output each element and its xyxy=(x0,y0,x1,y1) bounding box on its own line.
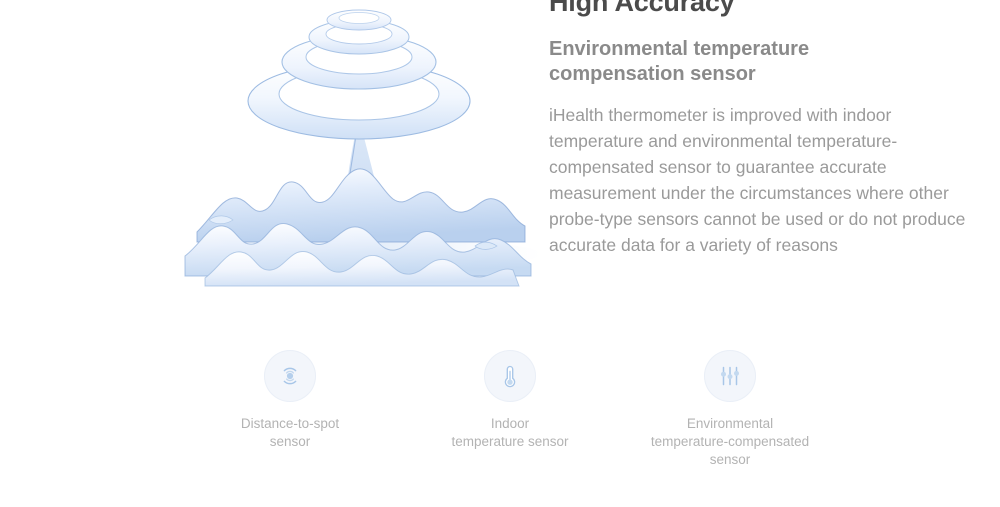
feature-label: Indoor temperature sensor xyxy=(451,415,568,451)
feature-label: Environmental temperature-compensated se… xyxy=(651,415,809,469)
thermometer-icon xyxy=(484,350,536,402)
body-paragraph: iHealth thermometer is improved with ind… xyxy=(549,103,979,258)
ring-tiny xyxy=(327,10,391,30)
distance-to-spot-sensor-icon xyxy=(264,350,316,402)
feature-label: Distance-to-spot sensor xyxy=(241,415,339,451)
sensor-feature-row: Distance-to-spot sensor Indoor temperatu… xyxy=(180,350,840,469)
page-title: High Accuracy xyxy=(549,0,985,19)
feature-panel: High Accuracy Environmental temperature … xyxy=(0,0,1000,507)
page-subtitle: Environmental temperature compensation s… xyxy=(549,37,894,87)
feature-distance-to-spot: Distance-to-spot sensor xyxy=(180,350,400,451)
feature-environmental-compensated: Environmental temperature-compensated se… xyxy=(620,350,840,469)
equalizer-sliders-icon xyxy=(704,350,756,402)
feature-indoor-temperature: Indoor temperature sensor xyxy=(400,350,620,451)
text-column: High Accuracy Environmental temperature … xyxy=(549,0,985,259)
signal-rings-over-waves-illustration xyxy=(175,0,545,294)
